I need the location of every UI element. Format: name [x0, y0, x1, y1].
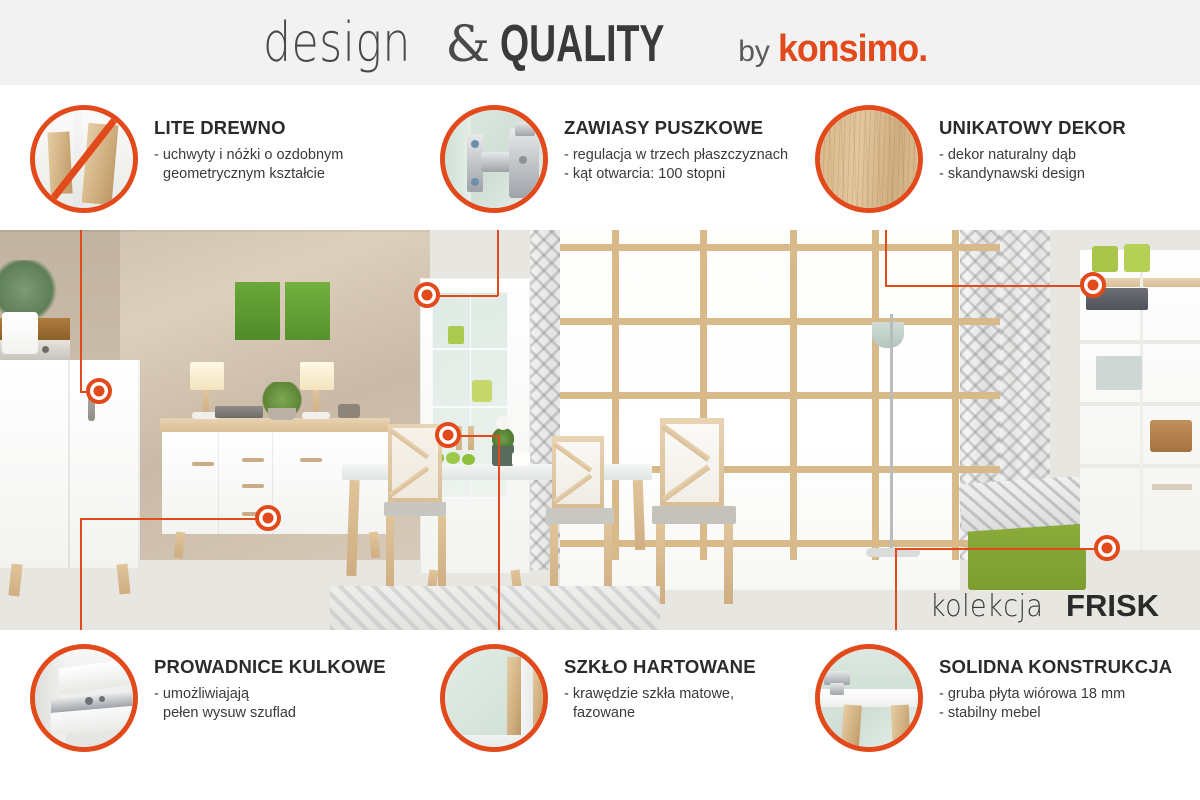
- connector-line: [895, 548, 1100, 550]
- floor-lamp-pole: [890, 314, 893, 550]
- framed-art: [1096, 356, 1142, 390]
- feature-title: SZKŁO HARTOWANE: [564, 656, 756, 678]
- feature-line: - gruba płyta wiórowa 18 mm: [939, 685, 1172, 704]
- feature-unikatowy-dekor: UNIKATOWY DEKOR - dekor naturalny dąb - …: [815, 105, 1126, 213]
- feature-line: - stabilny mebel: [939, 704, 1172, 723]
- feature-szklo-hartowane: SZKŁO HARTOWANE - krawędzie szkła matowe…: [440, 644, 756, 752]
- marker-glass-cabinet[interactable]: [414, 282, 440, 308]
- plant-pot-green: [1124, 244, 1150, 272]
- header-banner: design & QUALITY by konsimo.: [0, 0, 1200, 85]
- feature-line: - umożliwiajają: [154, 685, 386, 704]
- window-transom: [560, 244, 1000, 251]
- feature-line: - skandynawski design: [939, 165, 1126, 184]
- marker-sideboard-drawer[interactable]: [255, 505, 281, 531]
- feature-line: fazowane: [564, 704, 756, 723]
- table-lamp-shade: [190, 362, 224, 390]
- feature-text-solidna-konstrukcja: SOLIDNA KONSTRUKCJA - gruba płyta wiórow…: [939, 644, 1172, 723]
- connector-line: [497, 230, 499, 296]
- connector-line: [895, 548, 897, 630]
- plant-pot: [268, 408, 296, 420]
- feature-line: geometrycznym kształcie: [154, 165, 343, 184]
- feature-lite-drewno: LITE DREWNO - uchwyty i nóżki o ozdobnym…: [30, 105, 343, 213]
- cabinet-door-gap: [68, 360, 70, 568]
- books-stack: [215, 406, 263, 418]
- marker-shelf-unit[interactable]: [1080, 272, 1106, 298]
- feature-title: LITE DREWNO: [154, 117, 343, 139]
- feature-zawiasy-puszkowe: ZAWIASY PUSZKOWE - regulacja w trzech pł…: [440, 105, 788, 213]
- solid-wood-leg-no-icon: [30, 105, 138, 213]
- wall-art-left: [235, 282, 280, 340]
- collection-watermark: kolekcja FRISK: [930, 588, 1159, 624]
- watermark-name: FRISK: [1066, 588, 1159, 624]
- chair-leg: [386, 516, 394, 590]
- feature-text-zawiasy-puszkowe: ZAWIASY PUSZKOWE - regulacja w trzech pł…: [564, 105, 788, 184]
- coffee-cup: [338, 404, 360, 418]
- area-rug: [330, 586, 660, 630]
- cup-hinge-icon: [440, 105, 548, 213]
- feature-line: - dekor naturalny dąb: [939, 146, 1126, 165]
- feature-line: - krawędzie szkła matowe,: [564, 685, 756, 704]
- connector-line: [498, 435, 500, 630]
- window-transom: [560, 392, 1000, 399]
- chair-seat: [652, 506, 736, 524]
- connector-line: [437, 295, 498, 297]
- chair-seat: [384, 502, 446, 516]
- green-apple: [446, 452, 460, 464]
- green-apple: [462, 454, 475, 465]
- infographic-page: design & QUALITY by konsimo. LITE DREWNO…: [0, 0, 1200, 800]
- feature-title: PROWADNICE KULKOWE: [154, 656, 386, 678]
- feature-line: - uchwyty i nóżki o ozdobnym: [154, 146, 343, 165]
- floor-lamp-shade: [872, 322, 904, 348]
- sideboard-handle: [192, 462, 214, 466]
- window-wall: [560, 230, 960, 590]
- table-lamp-shade: [300, 362, 334, 390]
- vase-grey: [492, 444, 514, 466]
- marker-table-leg[interactable]: [1094, 535, 1120, 561]
- chair-leg: [438, 516, 446, 590]
- feature-text-unikatowy-dekor: UNIKATOWY DEKOR - dekor naturalny dąb - …: [939, 105, 1126, 184]
- table-frame-icon: [815, 644, 923, 752]
- chair-leg: [724, 524, 733, 604]
- connector-line: [458, 435, 500, 437]
- sideboard-handle: [242, 458, 264, 462]
- table-leg: [346, 480, 359, 576]
- cabinet-item-bowl: [472, 380, 492, 402]
- header-brand-konsimo: konsimo.: [778, 28, 927, 71]
- shelf-item: [1152, 484, 1192, 490]
- top-feature-band: LITE DREWNO - uchwyty i nóżki o ozdobnym…: [0, 85, 1200, 230]
- feature-text-lite-drewno: LITE DREWNO - uchwyty i nóżki o ozdobnym…: [154, 105, 343, 184]
- cabinet-handle-oak: [468, 426, 474, 450]
- table-lamp-stem: [203, 390, 209, 414]
- header-ampersand: &: [446, 15, 491, 73]
- table-lamp-stem: [313, 390, 319, 414]
- connector-line: [80, 230, 82, 392]
- feature-text-szklo-hartowane: SZKŁO HARTOWANE - krawędzie szkła matowe…: [564, 644, 756, 723]
- feature-solidna-konstrukcja: SOLIDNA KONSTRUKCJA - gruba płyta wiórow…: [815, 644, 1172, 752]
- feature-title: ZAWIASY PUSZKOWE: [564, 117, 788, 139]
- room-photo: [0, 230, 1200, 630]
- feature-line: - regulacja w trzech płaszczyznach: [564, 146, 788, 165]
- feature-text-prowadnice-kulkowe: PROWADNICE KULKOWE - umożliwiajają pełen…: [154, 644, 386, 723]
- marker-cabinet-handle[interactable]: [86, 378, 112, 404]
- connector-line: [885, 230, 887, 286]
- connector-line: [80, 518, 82, 630]
- cabinet-item-green: [448, 326, 464, 344]
- brand-lockup: design & QUALITY by konsimo.: [263, 11, 937, 74]
- storage-basket: [1150, 420, 1192, 452]
- watermark-prefix: kolekcja: [930, 589, 1043, 624]
- oak-wood-grain-icon: [815, 105, 923, 213]
- chair-seat: [546, 508, 614, 524]
- feature-title: UNIKATOWY DEKOR: [939, 117, 1126, 139]
- tempered-glass-icon: [440, 644, 548, 752]
- vase-left: [2, 312, 38, 354]
- green-pouf: [968, 524, 1086, 590]
- patterned-cushion: [958, 476, 1083, 532]
- window-transom: [560, 540, 1000, 547]
- sideboard-handle: [300, 458, 322, 462]
- header-word-by: by: [738, 35, 770, 69]
- plant-pot-green: [1092, 246, 1118, 272]
- plant-left: [0, 260, 60, 320]
- feature-line: - kąt otwarcia: 100 stopni: [564, 165, 788, 184]
- window-transom: [560, 318, 1000, 325]
- cabinet-leg: [116, 564, 130, 595]
- tall-cabinet: [0, 360, 140, 568]
- sideboard-handle: [242, 484, 264, 488]
- bottom-feature-band: PROWADNICE KULKOWE - umożliwiajają pełen…: [0, 630, 1200, 800]
- table-lamp-base: [302, 412, 330, 419]
- flower-bloom: [496, 416, 510, 430]
- feature-prowadnice-kulkowe: PROWADNICE KULKOWE - umożliwiajają pełen…: [30, 644, 386, 752]
- candle: [512, 452, 530, 466]
- feature-title: SOLIDNA KONSTRUKCJA: [939, 656, 1172, 678]
- feature-line: pełen wysuw szuflad: [154, 704, 386, 723]
- sideboard-top: [160, 418, 390, 432]
- header-word-quality: QUALITY: [500, 14, 664, 74]
- cabinet-leg: [8, 564, 22, 597]
- header-word-design: design: [263, 11, 411, 74]
- connector-line: [80, 518, 262, 520]
- radio-knob: [42, 346, 49, 353]
- flower-leaves: [492, 428, 514, 446]
- connector-line: [885, 285, 1085, 287]
- marker-chair-back[interactable]: [435, 422, 461, 448]
- wall-art-right: [285, 282, 330, 340]
- ball-bearing-slide-icon: [30, 644, 138, 752]
